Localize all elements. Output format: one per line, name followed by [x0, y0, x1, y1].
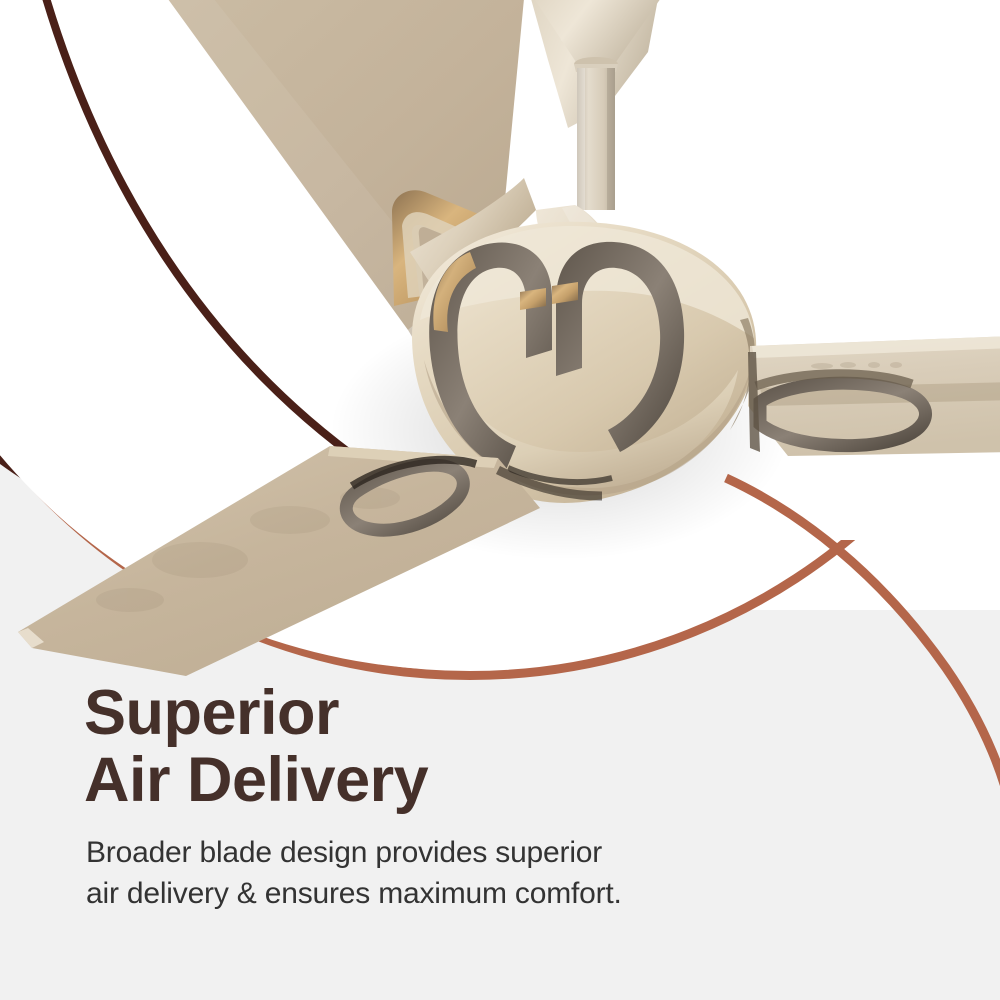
fan-blade-lower-left — [18, 446, 602, 676]
copy-block: Superior Air Delivery Broader blade desi… — [84, 680, 884, 914]
page-title: Superior Air Delivery — [84, 680, 884, 814]
product-feature-card: Superior Air Delivery Broader blade desi… — [0, 0, 1000, 1000]
fan-blade-right — [748, 336, 1000, 456]
page-subtitle: Broader blade design provides superior a… — [86, 832, 884, 915]
